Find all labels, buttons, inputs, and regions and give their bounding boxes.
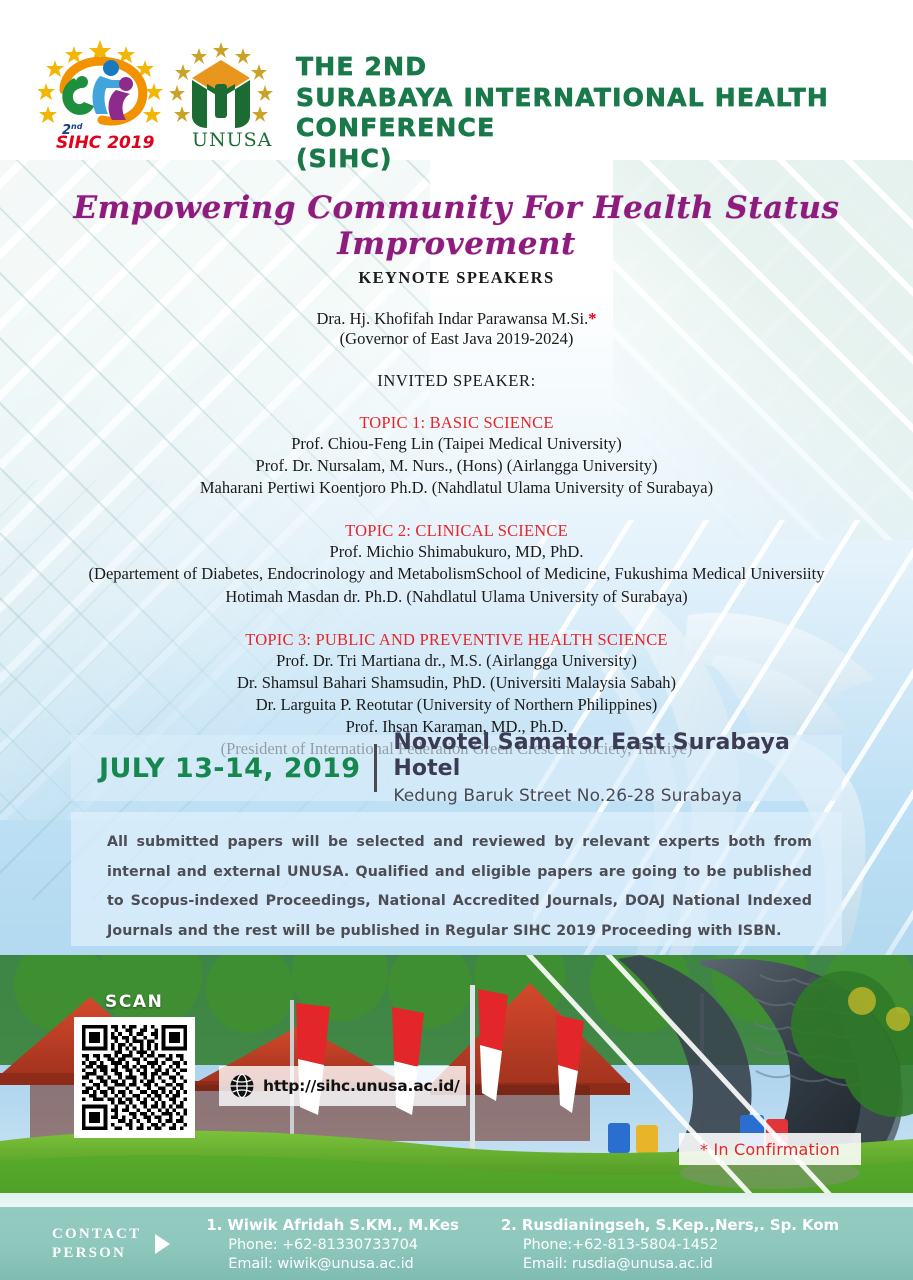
paper-submission-note: All submitted papers will be selected an… [107,828,812,946]
paper-submission-banner: All submitted papers will be selected an… [71,812,842,946]
contact-person-1: 1. Wiwik Afridah S.KM., M.Kes Phone: +62… [206,1216,459,1272]
website-url: http://sihc.unusa.ac.id/ [263,1077,460,1095]
topic-block-2: TOPIC 2: CLINICAL SCIENCE Prof. Michio S… [0,521,913,607]
contact-person-2: 2. Rusdianingseh, S.Kep.,Ners,. Sp. Kom … [501,1216,839,1272]
topic-2-speaker-1: Prof. Michio Shimabukuro, MD, PhD. [0,541,913,563]
topic-1-speaker-1: Prof. Chiou-Feng Lin (Taipei Medical Uni… [0,433,913,455]
event-date: JULY 13-14, 2019 [71,753,360,784]
title-line-2: SURABAYA INTERNATIONAL HEALTH CONFERENCE [296,83,896,144]
invited-speaker-heading: INVITED SPEAKER: [0,371,913,391]
topic-3-title: TOPIC 3: PUBLIC AND PREVENTIVE HEALTH SC… [0,630,913,650]
topic-2-speaker-3: Hotimah Masdan dr. Ph.D. (Nahdlatul Ulam… [0,586,913,608]
contact-2-name: 2. Rusdianingseh, S.Kep.,Ners,. Sp. Kom [501,1216,839,1234]
speakers-section: KEYNOTE SPEAKERS Dra. Hj. Khofifah Indar… [0,268,913,760]
keynote-speakers-heading: KEYNOTE SPEAKERS [0,268,913,288]
contact-person-label: CONTACT PERSON [52,1225,141,1263]
topic-3-speaker-3: Dr. Larguita P. Reotutar (University of … [0,694,913,716]
keynote-speaker-name: Dra. Hj. Khofifah Indar Parawansa M.Si.* [0,309,913,329]
globe-icon [229,1073,255,1099]
topic-1-speaker-2: Prof. Dr. Nursalam, M. Nurs., (Hons) (Ai… [0,455,913,477]
qr-code-image [82,1025,187,1130]
sihc-logo-icon: 2 nd SIHC 2019 [38,38,166,150]
svg-text:UNUSA: UNUSA [192,129,272,150]
date-venue-banner: JULY 13-14, 2019 Novotel Samator East Su… [71,735,842,801]
topic-1-title: TOPIC 1: BASIC SCIENCE [0,413,913,433]
vertical-divider [374,744,377,792]
venue-block: Novotel Samator East Surabaya Hotel Kedu… [393,730,842,807]
topic-3-speaker-1: Prof. Dr. Tri Martiana dr., M.S. (Airlan… [0,650,913,672]
poster-header: 2 nd SIHC 2019 UNUSA [0,0,913,160]
svg-text:SIHC 2019: SIHC 2019 [56,133,155,150]
keynote-name-text: Dra. Hj. Khofifah Indar Parawansa M.Si. [317,309,589,328]
contact-2-phone: Phone:+62-813-5804-1452 [523,1237,839,1253]
triangle-arrow-icon [155,1234,170,1254]
topic-2-speaker-2: (Departement of Diabetes, Endocrinology … [0,563,913,585]
unusa-logo-icon: UNUSA [166,40,276,150]
conference-tagline: Empowering Community For Health Status I… [0,190,913,262]
topic-2-title: TOPIC 2: CLINICAL SCIENCE [0,521,913,541]
venue-name: Novotel Samator East Surabaya Hotel [393,730,842,783]
venue-address: Kedung Baruk Street No.26-28 Surabaya [393,786,842,806]
confirmation-asterisk: * [588,309,596,328]
scan-label: SCAN [105,992,164,1012]
conference-poster: 2 nd SIHC 2019 UNUSA [0,0,913,1280]
contact-label-line-2: PERSON [52,1244,141,1263]
title-line-3: (SIHC) [296,144,896,175]
topic-block-1: TOPIC 1: BASIC SCIENCE Prof. Chiou-Feng … [0,413,913,499]
website-url-banner[interactable]: http://sihc.unusa.ac.id/ [219,1066,466,1106]
keynote-speaker-role: (Governor of East Java 2019-2024) [0,329,913,349]
contact-1-email: Email: wiwik@unusa.ac.id [228,1256,459,1272]
confirmation-note: * In Confirmation [700,1140,840,1159]
confirmation-note-banner: * In Confirmation [679,1133,861,1165]
contact-1-name: 1. Wiwik Afridah S.KM., M.Kes [206,1216,459,1234]
contact-1-phone: Phone: +62-81330733704 [228,1237,459,1253]
contact-2-email: Email: rusdia@unusa.ac.id [523,1256,839,1272]
footer-separator [0,1193,913,1207]
svg-text:nd: nd [71,122,83,131]
contact-label-line-1: CONTACT [52,1225,141,1244]
conference-title: THE 2ND SURABAYA INTERNATIONAL HEALTH CO… [296,52,896,174]
topic-3-speaker-2: Dr. Shamsul Bahari Shamsudin, PhD. (Univ… [0,672,913,694]
title-line-1: THE 2ND [296,52,896,83]
qr-code[interactable] [74,1017,195,1138]
contact-footer: CONTACT PERSON 1. Wiwik Afridah S.KM., M… [0,1207,913,1280]
topic-1-speaker-3: Maharani Pertiwi Koentjoro Ph.D. (Nahdla… [0,477,913,499]
